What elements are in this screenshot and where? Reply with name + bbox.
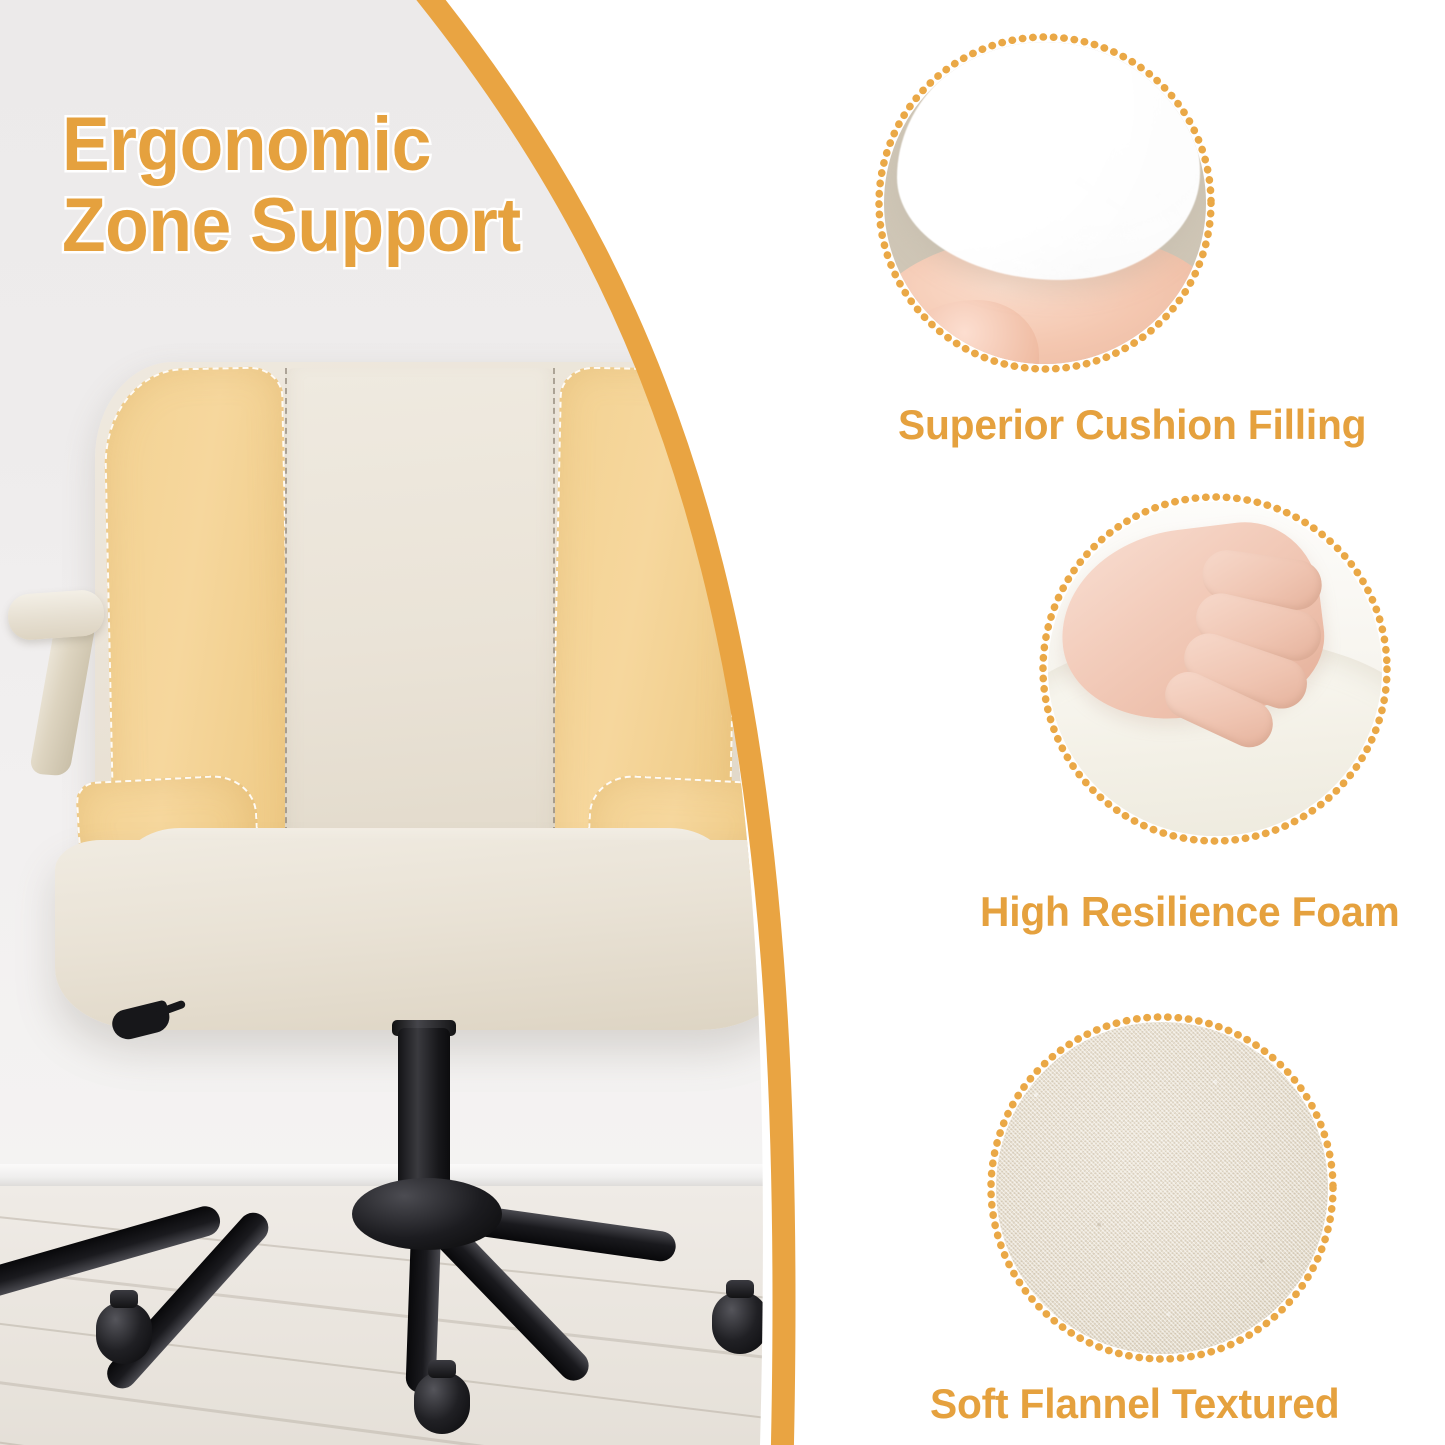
armrest-post-right — [752, 624, 819, 776]
feature-label-high-resilience-foam: High Resilience Foam — [980, 888, 1399, 936]
feature-label-superior-cushion-filling: Superior Cushion Filling — [898, 401, 1366, 449]
caster-wheel — [712, 1292, 768, 1354]
gas-lift-cylinder — [398, 1028, 450, 1203]
feature-superior-cushion-filling — [884, 42, 1206, 364]
feature-image-circle — [884, 42, 1206, 364]
feature-image-circle — [996, 1022, 1328, 1354]
armrest-post-left — [29, 624, 96, 776]
dotted-ring-border — [987, 1013, 1337, 1363]
dotted-ring-border — [1039, 493, 1391, 845]
caster-wheel — [96, 1302, 152, 1364]
caster-wheel — [414, 1372, 470, 1434]
feature-label-soft-flannel-textured: Soft Flannel Textured — [930, 1380, 1339, 1428]
dotted-ring-border — [875, 33, 1215, 373]
product-feature-infographic: Ergonomic Zone Support Superior Cushion … — [0, 0, 1445, 1445]
five-star-base-hub — [352, 1178, 502, 1250]
armrest-pad-left — [7, 589, 106, 642]
feature-image-circle — [1048, 502, 1382, 836]
backrest-center-panel — [285, 368, 555, 863]
armrest-pad-right — [747, 589, 846, 642]
page-title: Ergonomic Zone Support — [62, 104, 521, 267]
feature-high-resilience-foam — [1048, 502, 1382, 836]
feature-soft-flannel-textured — [996, 1022, 1328, 1354]
